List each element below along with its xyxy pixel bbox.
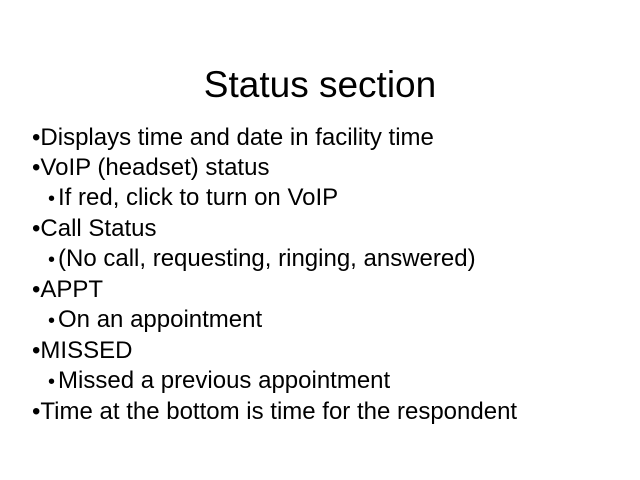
page-title: Status section [0,63,640,107]
bullet-item-label: Call Status [40,215,156,242]
bullet-item: •Call Status [28,214,628,244]
bullet-item: •(No call, requesting, ringing, answered… [28,244,628,275]
bullet-item: •Time at the bottom is time for the resp… [28,397,628,427]
bullet-item: •APPT [28,275,628,305]
bullet-item-label: (No call, requesting, ringing, answered) [58,245,476,272]
bullet-point-icon: • [48,367,55,397]
bullet-item: •If red, click to turn on VoIP [28,183,628,214]
bullet-item-label: VoIP (headset) status [40,154,269,181]
bullet-point-icon: • [48,306,55,336]
bullet-item: •Missed a previous appointment [28,366,628,397]
slide-canvas: Status section •Displays time and date i… [0,0,640,480]
bullet-item: •On an appointment [28,305,628,336]
bullet-item-label: On an appointment [58,306,262,333]
bullet-item-label: Time at the bottom is time for the respo… [40,398,517,425]
bullet-list: •Displays time and date in facility time… [28,123,628,427]
bullet-point-icon: • [48,245,55,275]
bullet-item-label: If red, click to turn on VoIP [58,184,338,211]
bullet-item-label: Displays time and date in facility time [40,124,434,151]
bullet-item: •VoIP (headset) status [28,153,628,183]
bullet-item: •Displays time and date in facility time [28,123,628,153]
bullet-item-label: MISSED [40,337,132,364]
bullet-item: •MISSED [28,336,628,366]
bullet-item-label: APPT [40,276,103,303]
bullet-point-icon: • [48,184,55,214]
bullet-item-label: Missed a previous appointment [58,367,390,394]
